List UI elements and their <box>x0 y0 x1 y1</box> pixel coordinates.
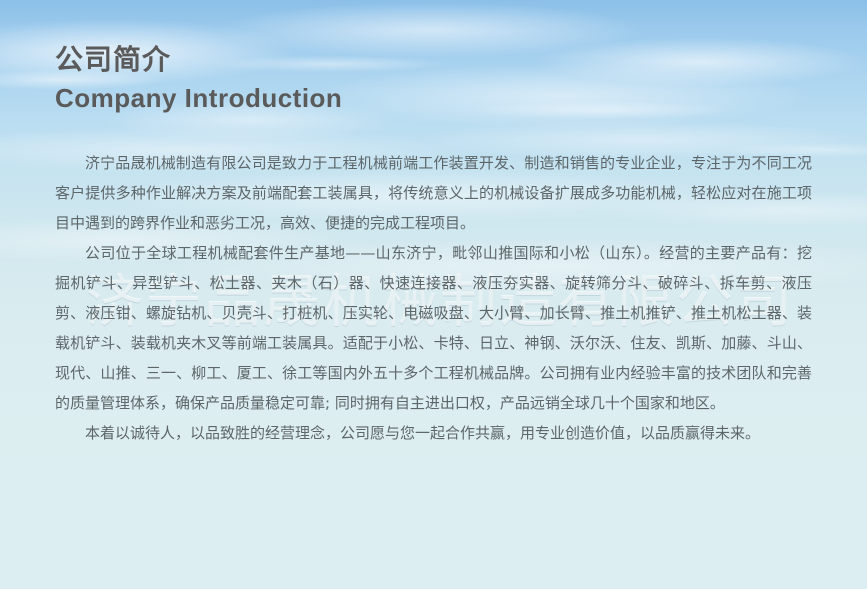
body-paragraph-1: 济宁品晟机械制造有限公司是致力于工程机械前端工作装置开发、制造和销售的专业企业，… <box>55 148 812 238</box>
introduction-body: 济宁品晟机械制造有限公司是致力于工程机械前端工作装置开发、制造和销售的专业企业，… <box>55 148 812 448</box>
page-heading: 公司简介 Company Introduction <box>55 42 342 114</box>
body-paragraph-2: 公司位于全球工程机械配套件生产基地——山东济宁，毗邻山推国际和小松（山东）。经营… <box>55 238 812 418</box>
body-paragraph-3: 本着以诚待人，以品致胜的经营理念，公司愿与您一起合作共赢，用专业创造价值，以品质… <box>55 418 812 448</box>
page-content: 公司简介 Company Introduction 济宁品晟机械制造有限公司是致… <box>0 0 867 589</box>
page-title-chinese: 公司简介 <box>55 42 342 77</box>
company-introduction-page: 济宁品晟机械制造有限公司 公司简介 Company Introduction 济… <box>0 0 867 589</box>
page-title-english: Company Introduction <box>55 83 342 114</box>
